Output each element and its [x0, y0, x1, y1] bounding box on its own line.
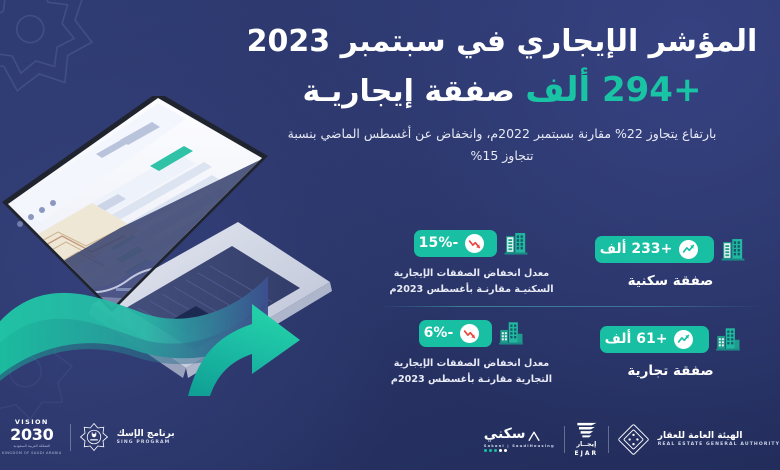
- sakani-logo: سكني Sakani | SaudiHousing: [482, 426, 555, 452]
- title-month: سبتمبر 2023: [247, 24, 446, 59]
- trend-down-icon: [460, 324, 479, 343]
- footer-logos-right: الهيئة العامة للعقار REAL ESTATE GENERAL…: [482, 421, 780, 457]
- stat-residential-deals: +233 ألف صفقة سكنية: [571, 218, 770, 308]
- logo-separator: [608, 426, 609, 453]
- residential-building-icon: [720, 235, 746, 263]
- page-title: المؤشر الإيجاري في سبتمبر 2023: [242, 24, 762, 61]
- rega-diamond-icon: [618, 424, 649, 455]
- vision-2030-logo: VISION 2030 المملكة العربية السعودية KIN…: [2, 418, 62, 456]
- logo-separator: [70, 424, 71, 451]
- stat-caption: صفقة تجارية: [627, 362, 713, 380]
- stat-commercial-deals: +61 ألف صفقة تجارية: [571, 308, 770, 398]
- stat-badge: -15%: [414, 230, 498, 257]
- stat-commercial-decline: -6% معدل انخفاض الصفقات الإيجارية التجار…: [372, 308, 571, 398]
- logo-separator: [564, 426, 565, 453]
- headline-number: +294 ألف: [525, 70, 701, 110]
- infographic-canvas: المؤشر الإيجاري في سبتمبر 2023 +294 ألف …: [0, 0, 780, 470]
- stat-row: -6%: [419, 319, 525, 347]
- headline: +294 ألف صفقة إيجاريـة: [242, 70, 762, 111]
- trend-up-icon: [679, 240, 698, 259]
- subtitle: بارتفاع يتجاوز 22% مقارنة بسبتمبر 2022م،…: [242, 123, 762, 167]
- rega-ar: الهيئة العامة للعقار: [658, 431, 743, 441]
- title-lead: المؤشر الإيجاري في: [446, 24, 758, 59]
- stat-badge: -6%: [419, 320, 493, 347]
- sakani-ar: سكني: [484, 426, 526, 442]
- stat-value: +61 ألف: [605, 331, 668, 347]
- stat-value: -6%: [424, 325, 454, 341]
- residential-building-icon: [503, 229, 529, 257]
- vision-2030-sub-en: KINGDOM OF SAUDI ARABIA: [2, 451, 62, 456]
- sakani-en: Sakani | SaudiHousing: [484, 443, 555, 448]
- footer-logos-left: برنامج الإسك SING PROGRAM VISION 2030 ال…: [2, 418, 175, 456]
- commercial-building-icon: [498, 319, 524, 347]
- stat-row: +61 ألف: [600, 325, 742, 353]
- commercial-building-icon: [715, 325, 741, 353]
- housing-program-ar: برنامج الإسك: [117, 429, 175, 439]
- stat-caption: صفقة سكنية: [628, 272, 714, 290]
- stat-badge: +233 ألف: [595, 236, 715, 263]
- stats-grid: +233 ألف صفقة سكنية: [372, 218, 770, 398]
- ejar-en: EJAR: [575, 450, 599, 457]
- stat-badge: +61 ألف: [600, 326, 710, 353]
- stat-value: +233 ألف: [600, 241, 673, 257]
- header-block: المؤشر الإيجاري في سبتمبر 2023 +294 ألف …: [242, 24, 762, 167]
- sakani-dots: [484, 449, 507, 452]
- stat-row: -15%: [414, 229, 530, 257]
- footer: برنامج الإسك SING PROGRAM VISION 2030 ال…: [0, 412, 780, 470]
- stat-value: -15%: [419, 235, 459, 251]
- stat-caption: معدل انخفاض الصفقات الإيجارية التجارية م…: [384, 356, 559, 387]
- ejar-mark-icon: [574, 421, 599, 438]
- stat-row: +233 ألف: [595, 235, 747, 263]
- vision-2030-sub-ar: المملكة العربية السعودية: [13, 444, 50, 449]
- ejar-ar: إيجــار: [576, 440, 596, 448]
- housing-program-logo: برنامج الإسك SING PROGRAM: [117, 429, 175, 445]
- headline-rest: صفقة إيجاريـة: [303, 74, 526, 109]
- housing-program-en: SING PROGRAM: [117, 440, 171, 445]
- stat-residential-decline: -15% معدل انخفاض الصفقات الإيجارية السكن…: [372, 218, 571, 308]
- trend-up-icon: [674, 330, 693, 349]
- sakani-roof-icon: [528, 431, 540, 442]
- ejar-logo: إيجــار EJAR: [574, 421, 599, 457]
- rega-logo-text: الهيئة العامة للعقار REAL ESTATE GENERAL…: [658, 431, 780, 447]
- saudi-emblem-icon: [79, 422, 109, 452]
- stat-caption: معدل انخفاض الصفقات الإيجارية السكنيـة م…: [384, 266, 559, 297]
- rega-en: REAL ESTATE GENERAL AUTHORITY: [658, 442, 780, 447]
- trend-down-icon: [465, 234, 484, 253]
- vision-2030-number: 2030: [10, 427, 53, 443]
